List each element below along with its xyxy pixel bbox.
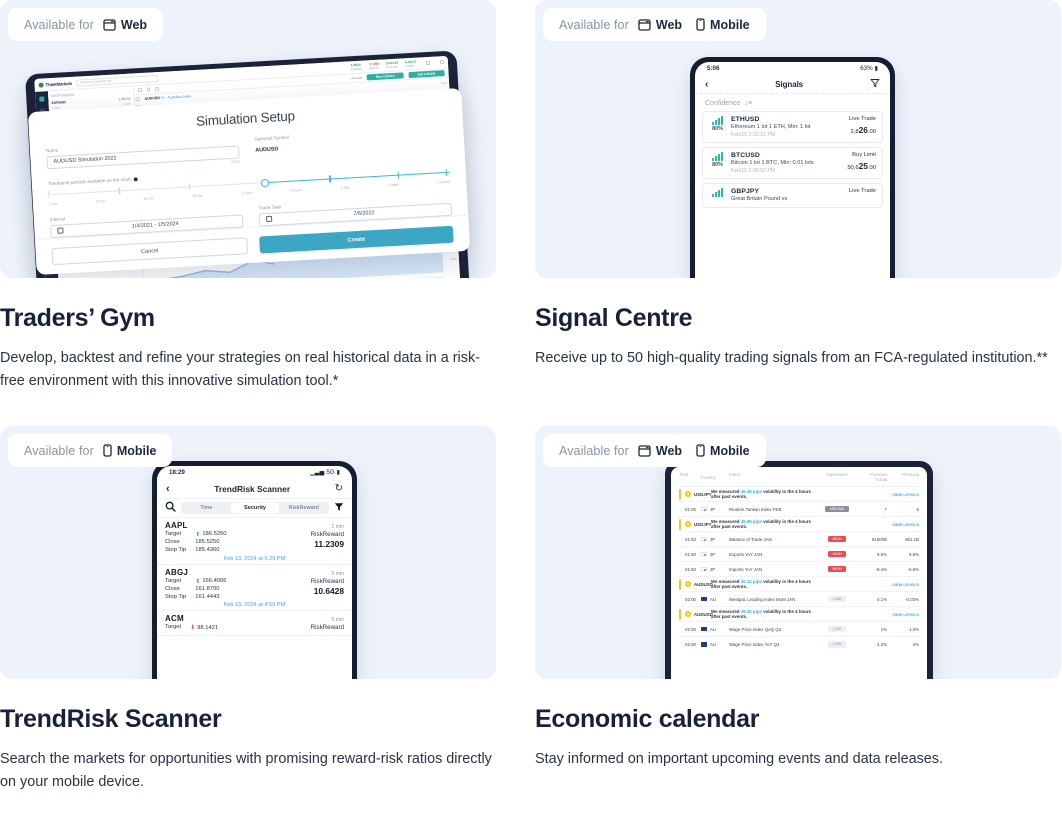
signal-description: Bitcoin 1 lot 1 BTC, Min: 0.01 lots [731,160,842,168]
sort-control[interactable]: Confidence ↓≡ [695,94,890,111]
cursor-tool-icon[interactable] [135,97,139,101]
platform-web: Web [103,18,147,32]
stop-label: Stop Tip [165,547,186,555]
event-forecast: 7 [855,507,887,512]
note-pair-label: AUDUSD [694,582,713,587]
quote-price: 1.0824 [351,63,363,68]
sort-desc-icon: ↓≡ [744,100,752,107]
target-label: Target [165,578,186,586]
brand-logo: ThinkMarkets [38,80,72,87]
row-accent [679,489,681,500]
event-country: JP [701,507,729,512]
signal-symbol: ETHUSD [731,116,844,123]
watchlist-price: 1.08245 [118,97,130,102]
availability-badge-economic-calendar: Available for Web Mobile [543,434,766,467]
quote-symbol: EURUSD [351,68,363,72]
country-code: AU [710,627,716,632]
axis-tick: 0.651 [450,258,457,261]
slider-tick [446,169,448,176]
event-name: Westpac Leading Index MoM JAN [729,597,819,602]
target-value-wrap: ⬆166.4006 [195,578,226,586]
platform-label: Web [656,18,682,32]
quote-price: 2,024.10 [386,61,399,66]
media-signal-centre: Available for Web Mobile 5: [535,0,1061,278]
event-time: 01:50 [679,537,701,542]
country-code: JP [710,567,715,572]
signal-card[interactable]: GBPJPY Great Britain Pound vs Live Trade [702,183,883,208]
status-time: 18:29 [169,469,185,476]
slider-tick [397,172,399,179]
calendar-event-row[interactable]: 01:50 JP Balance of Trade JAN HIGH ¥1500… [679,532,919,547]
price-prefix: 2,8 [851,129,859,135]
selected-symbol-group: Selected Symbol AUDUSD [255,126,449,163]
note-text: We measured 29.30 pips volatility in the… [711,609,819,619]
event-importance: HIGH [819,566,855,573]
view-levels-link[interactable]: VIEW LEVELS [887,582,919,587]
event-time: 02:00 [679,597,701,602]
battery-icon: ▮ [875,65,878,72]
column-event: Event [729,472,819,482]
stop-label: Stop Tip [165,594,186,602]
axis-tick: 0.658 [441,82,448,85]
event-country: JP [701,537,729,542]
note-pair-label: AUDUSD [694,612,713,617]
quote-item[interactable]: 2,024.10XAUUSD [386,61,399,70]
confidence-meter: 80% [709,152,726,174]
signal-info: BTCUSD Bitcoin 1 lot 1 BTC, Min: 0.01 lo… [731,152,842,174]
slider-tick [329,175,331,182]
slider-tick [189,183,191,190]
scanner-date: Feb 13, 2024 at 4:50 PM [165,602,344,608]
event-time: 02:30 [679,642,701,647]
status-bar: 18:29 ▁▃▅ 5G ▮ [157,466,352,479]
note-text: We measured 45.46 pips volatility in the… [711,489,819,499]
media-trendrisk: Available for Mobile 18:29 ▁▃▅ 5G ▮ [0,426,496,679]
signal-bars-icon: ▁▃▅ [310,469,324,476]
price-prefix: 50,6 [847,165,858,171]
description-signal-centre: Receive up to 50 high-quality trading si… [535,347,1054,370]
feature-card-trendrisk: Available for Mobile 18:29 ▁▃▅ 5G ▮ [0,426,531,817]
note-text: We measured 45.99 pips volatility in the… [711,519,819,529]
signal-right: Live Trade 2,826.00 [849,116,876,138]
rr-label: RiskReward [311,531,344,538]
scanner-row[interactable]: AAPL 1 min Target ⬆186.5250 Close 185.52… [157,518,352,565]
event-time: 02:30 [679,627,701,632]
event-forecast: 4.2% [855,642,887,647]
web-icon [638,445,651,457]
page-title-economic-calendar: Economic calendar [535,705,1062,734]
signal-info: GBPJPY Great Britain Pound vs [731,188,844,203]
signal-price: 2,826.00 [849,125,876,135]
back-icon[interactable]: ‹ [705,79,708,90]
event-importance: LOW [819,596,855,603]
calendar-screen: Time Country Event Importance Forecast A… [671,467,927,679]
quote-item[interactable]: 5,021.5US500 [405,60,416,69]
scanner-values: Target ⬆186.5250 Close 185.5250 Stop Tip… [165,531,227,555]
chart-symbol-text: AUDUSD [144,96,160,101]
importance-badge: HIGH [828,551,847,558]
platform-label: Mobile [117,444,157,458]
page-title-traders-gym: Traders’ Gym [0,304,496,333]
importance-badge: LOW [828,641,846,648]
country-code: JP [710,507,715,512]
volatility-note-row: AUDUSD We measured 20.14 pips volatility… [679,577,919,592]
column-importance: Importance [819,472,855,482]
event-forecast: ¥1500B [855,537,887,542]
signal-right: Live Trade [849,188,876,203]
price-suffix: .00 [868,165,876,171]
signal-symbol: GBPJPY [731,188,844,195]
price-main: 25 [859,161,868,171]
country-code: AU [710,642,716,647]
signal-kind: Live Trade [849,188,876,194]
battery-text: 63% [860,65,872,72]
phone-screen: 18:29 ▁▃▅ 5G ▮ ‹ TrendRisk Scanner ↻ [157,466,352,679]
column-previous: Previous [887,472,919,482]
segment-riskreward[interactable]: RiskReward [279,503,328,513]
event-country: AU [701,642,729,647]
filter-icon[interactable] [334,499,344,517]
event-forecast: -8.4% [855,567,887,572]
network-label: 5G [326,469,334,476]
description-economic-calendar: Stay informed on important upcoming even… [535,748,1054,771]
watchlist-bid: 1.0824 [52,106,61,110]
row-accent [679,519,681,530]
target-value: 166.4006 [202,578,226,586]
note-pair: AUDUSD [685,611,711,617]
quote-symbol: XAUUSD [386,66,399,70]
close-value: 185.5250 [195,539,226,547]
event-previous: -0.03% [887,597,919,602]
arrow-up-icon: ⬆ [195,531,200,539]
event-name: Balance of Trade JAN [729,537,819,542]
signals-navbar: ‹ Signals [695,75,890,94]
slider-tick [118,187,120,194]
event-name: Wage Price Index YoY Q4 [729,642,819,647]
help-icon[interactable] [134,177,138,181]
tablet-mockup-economic-calendar: Time Country Event Importance Forecast A… [665,461,933,679]
flag-au-icon [701,597,707,602]
scanner-values: Target ⬆166.4006 Close 161.8700 Stop Tip… [165,578,227,602]
media-traders-gym: Available for Web ThinkMarkets [0,0,496,278]
platform-label: Web [121,18,147,32]
confidence-value: 80% [712,126,723,132]
warning-icon [685,491,691,497]
window-close-icon[interactable] [440,60,444,64]
mobile-icon [103,444,112,457]
volatility-note-row: USDJPY We measured 45.46 pips volatility… [679,487,919,502]
timeframe-note-text: Timeframe periods available on the chart [48,177,131,187]
availability-badge-traders-gym: Available for Web [8,8,163,41]
event-name: Wage Price Index QoQ Q4 [729,627,819,632]
event-country: JP [701,552,729,557]
row-accent [679,579,681,590]
scanner-row[interactable]: ACM 5 min Target ⬇98.1421 RiskReward [157,611,352,635]
quote-item[interactable]: 17,458GER40 [369,62,379,71]
trade-date-label-text: Trade Date [258,204,281,210]
event-time: 01:50 [679,567,701,572]
event-time: 01:50 [679,552,701,557]
event-importance: HIGH [819,536,855,543]
flag-jp-icon [701,552,707,557]
signal-price: 50,625.00 [847,161,876,171]
calendar-event-row[interactable]: 02:30 AU Wage Price Index YoY Q4 LOW 4.2… [679,637,919,652]
web-icon [638,19,651,31]
segment-security[interactable]: Security [231,503,280,513]
rr-label: RiskReward [311,624,344,631]
calendar-event-row[interactable]: 01:00 JP Reuters Tankan Index FEB MEDIUM… [679,502,919,517]
page-title-signal-centre: Signal Centre [535,304,1062,333]
note-pair: USDJPY [685,521,711,527]
scanner-row[interactable]: ABGJ 5 min Target ⬆166.4006 Close 161.87… [157,565,352,612]
stop-value: 161.4443 [195,594,226,602]
scanner-filter-bar: Time Security RiskReward [157,499,352,518]
flag-au-icon [701,642,707,647]
event-name: Reuters Tankan Index FEB [729,507,819,512]
scanner-row-header: ACM 5 min [165,614,344,623]
sort-segmented-control[interactable]: Time Security RiskReward [181,502,329,514]
importance-badge: MEDIUM [825,506,850,513]
note-pair: USDJPY [685,491,711,497]
nav-title: TrendRisk Scanner [214,484,290,494]
event-name: Imports YoY JAN [729,567,819,572]
battery-icon: ▮ [337,469,340,476]
availability-label: Available for [24,18,94,32]
close-label: Close [165,539,186,547]
event-previous: 6 [887,507,919,512]
name-field-group: Name AUDUSD Simulation 2022 22/50 [46,138,240,175]
target-value: 186.5250 [202,531,226,539]
quote-symbol: US500 [405,65,416,69]
risk-reward: RiskReward [311,624,344,631]
close-label: Close [165,586,186,594]
indicator-icon[interactable] [146,88,150,92]
view-levels-link[interactable]: VIEW LEVELS [887,612,919,617]
rr-value: 10.6428 [311,586,344,596]
signal-card[interactable]: 80% BTCUSD Bitcoin 1 lot 1 BTC, Min: 0.0… [702,147,883,179]
signal-description: Ethereum 1 lot 1 ETH, Min: 1 lot [731,124,844,132]
confidence-meter [709,188,726,203]
target-label: Target [165,624,181,632]
event-country: JP [701,567,729,572]
platform-mobile: Mobile [696,18,750,32]
warning-icon [685,581,691,587]
row-accent [679,609,681,620]
scanner-navbar: ‹ TrendRisk Scanner ↻ [157,479,352,499]
platform-label: Mobile [710,18,750,32]
event-time: 01:00 [679,507,701,512]
risk-reward: RiskReward 11.2309 [311,531,344,549]
quote-price: 5,021.5 [405,60,416,65]
warning-icon [685,521,691,527]
flag-jp-icon [701,567,707,572]
simulation-setup-dialog: Simulation Setup Name AUDUSD Simulation … [28,88,470,275]
column-country: Country [701,472,729,482]
availability-label: Available for [559,18,629,32]
brand-name: ThinkMarkets [45,80,72,86]
note-pair: AUDUSD [685,581,711,587]
event-previous: 1.3% [887,627,919,632]
volatility-note-row: AUDUSD We measured 29.30 pips volatility… [679,607,919,622]
sort-label: Confidence [705,100,740,107]
calendar-header: Time Country Event Importance Forecast A… [679,472,919,487]
volatility-note-row: USDJPY We measured 45.99 pips volatility… [679,517,919,532]
window-minimize-icon[interactable] [426,61,430,65]
target-label: Target [165,531,186,539]
signal-card[interactable]: 80% ETHUSD Ethereum 1 lot 1 ETH, Min: 1 … [702,111,883,143]
scanner-row-body: Target ⬆166.4006 Close 161.8700 Stop Tip… [165,578,344,602]
note-pair-label: USDJPY [694,492,712,497]
account-label: Account [351,76,362,81]
warning-icon [685,611,691,617]
feature-card-economic-calendar: Available for Web Mobile T [531,426,1062,817]
price-main: 26 [859,125,868,135]
timeframe-icon[interactable] [155,87,159,91]
instrument-search-input[interactable]: Search for instruments [76,75,158,87]
target-value-wrap: ⬇98.1421 [190,624,218,632]
scanner-values: Target ⬇98.1421 [165,624,218,632]
scanner-symbol: AAPL [165,521,188,530]
refresh-icon[interactable]: ↻ [335,483,343,494]
scanner-row-header: AAPL 1 min [165,521,344,530]
calendar-icon [57,227,63,233]
search-icon[interactable] [165,499,176,517]
event-importance: HIGH [819,551,855,558]
view-levels-link[interactable]: VIEW LEVELS [887,492,919,497]
target-value: 98.1421 [197,625,218,633]
event-importance: LOW [819,641,855,648]
calendar-event-row[interactable]: 02:00 AU Westpac Leading Index MoM JAN L… [679,592,919,607]
chart-type-icon[interactable] [138,88,142,92]
signal-time: Feb/15 2:05:52 PM [731,168,842,174]
signal-kind: Live Trade [849,116,876,122]
arrow-up-icon: ⬆ [195,578,200,586]
event-country: AU [701,627,729,632]
availability-label: Available for [24,444,94,458]
scanner-date: Feb 13, 2024 at 6:29 PM [165,556,344,562]
signal-description: Great Britain Pound vs [731,196,844,204]
chart-symbol-note: H1 · Australian Dollar [161,94,191,100]
slider-handle[interactable] [261,179,269,187]
nav-title: Signals [775,80,803,89]
scanner-symbol: ABGJ [165,568,188,577]
arrow-down-icon: ⬇ [190,624,195,632]
event-forecast: 1% [855,627,887,632]
importance-badge: LOW [828,596,846,603]
note-text: We measured 20.14 pips volatility in the… [711,579,819,589]
event-forecast: 9.5% [855,552,887,557]
confidence-bars-icon [712,188,723,197]
calendar-event-row[interactable]: 02:30 AU Wage Price Index QoQ Q4 LOW 1% … [679,622,919,637]
importance-badge: LOW [828,626,846,633]
event-previous: -6.8% [887,567,919,572]
target-value-wrap: ⬆186.5250 [195,531,226,539]
cancel-button[interactable]: Cancel [51,237,248,265]
status-indicators: ▁▃▅ 5G ▮ [310,469,340,476]
confidence-bars-icon [712,116,723,125]
signal-symbol: BTCUSD [731,152,842,159]
create-button[interactable]: Create [259,226,454,254]
interval-label-text: Interval [50,216,65,222]
confidence-meter: 80% [709,116,726,138]
signal-right: Buy Limit 50,625.00 [847,152,876,174]
event-importance: MEDIUM [819,506,855,513]
confidence-bars-icon [712,152,723,161]
column-forecast: Forecast Actual [855,472,887,482]
nav-icon-home[interactable] [39,96,44,101]
event-previous: ¥62.1B [887,537,919,542]
event-previous: 9.8% [887,552,919,557]
mobile-icon [696,444,705,457]
sell-button[interactable]: Sell 0.65401 [408,70,444,78]
calendar-event-row[interactable]: 01:50 JP Exports YoY JAN HIGH 9.5% 9.8% [679,547,919,562]
platform-web: Web [638,18,682,32]
description-traders-gym: Develop, backtest and refine your strate… [0,347,496,394]
logo-mark [38,82,43,87]
calendar-event-row[interactable]: 01:50 JP Imports YoY JAN HIGH -8.4% -6.8… [679,562,919,577]
filter-icon[interactable] [870,75,880,93]
scanner-period: 5 min [331,617,344,623]
phone-mockup-signals: 5:06 63% ▮ ‹ Signals Conf [690,57,895,278]
back-icon[interactable]: ‹ [166,483,170,495]
status-bar: 5:06 63% ▮ [695,62,890,75]
calendar-icon [266,216,272,222]
risk-reward: RiskReward 10.6428 [311,578,344,596]
quote-price: 17,458 [369,62,379,67]
phone-screen: 5:06 63% ▮ ‹ Signals Conf [695,62,890,278]
watchlist-menu-icon[interactable]: ⋯ [127,90,130,94]
column-time: Time [679,472,701,482]
event-importance: LOW [819,626,855,633]
availability-badge-signal-centre: Available for Web Mobile [543,8,766,41]
rr-label: RiskReward [311,578,344,585]
watchlist-title: INSTRUMENTS [51,93,74,98]
event-previous: 4% [887,642,919,647]
signal-info: ETHUSD Ethereum 1 lot 1 ETH, Min: 1 lot … [731,116,844,138]
close-value: 161.8700 [195,586,226,594]
scanner-period: 1 min [331,524,344,530]
slider-tick [48,191,50,198]
feature-grid: Available for Web ThinkMarkets [0,0,1062,817]
event-name: Exports YoY JAN [729,552,819,557]
availability-badge-trendrisk: Available for Mobile [8,434,172,467]
platform-mobile: Mobile [696,444,750,458]
rr-value: 11.2309 [311,539,344,549]
flag-au-icon [701,627,707,632]
mobile-icon [696,18,705,31]
scanner-row-body: Target ⬇98.1421 RiskReward [165,624,344,632]
signal-kind: Buy Limit [847,152,876,158]
country-code: JP [710,537,715,542]
segment-time[interactable]: Time [182,503,231,513]
watchlist-symbol: EURUSD [51,100,66,105]
scanner-row-body: Target ⬆186.5250 Close 185.5250 Stop Tip… [165,531,344,555]
scanner-symbol: ACM [165,614,184,623]
buy-button[interactable]: Buy 0.65412 [367,72,404,80]
page-title-trendrisk: TrendRisk Scanner [0,705,496,734]
event-country: AU [701,597,729,602]
feature-card-signal-centre: Available for Web Mobile 5: [531,0,1062,426]
media-economic-calendar: Available for Web Mobile T [535,426,1061,679]
platform-label: Web [656,444,682,458]
view-levels-link[interactable]: VIEW LEVELS [887,522,919,527]
phone-mockup-trendrisk: 18:29 ▁▃▅ 5G ▮ ‹ TrendRisk Scanner ↻ [152,461,357,679]
quote-item[interactable]: 1.0824EURUSD [351,63,363,72]
watchlist-ask: 1.0826 [122,102,131,106]
status-time: 5:06 [707,65,719,72]
feature-card-traders-gym: Available for Web ThinkMarkets [0,0,531,426]
slider-fill [265,172,450,184]
